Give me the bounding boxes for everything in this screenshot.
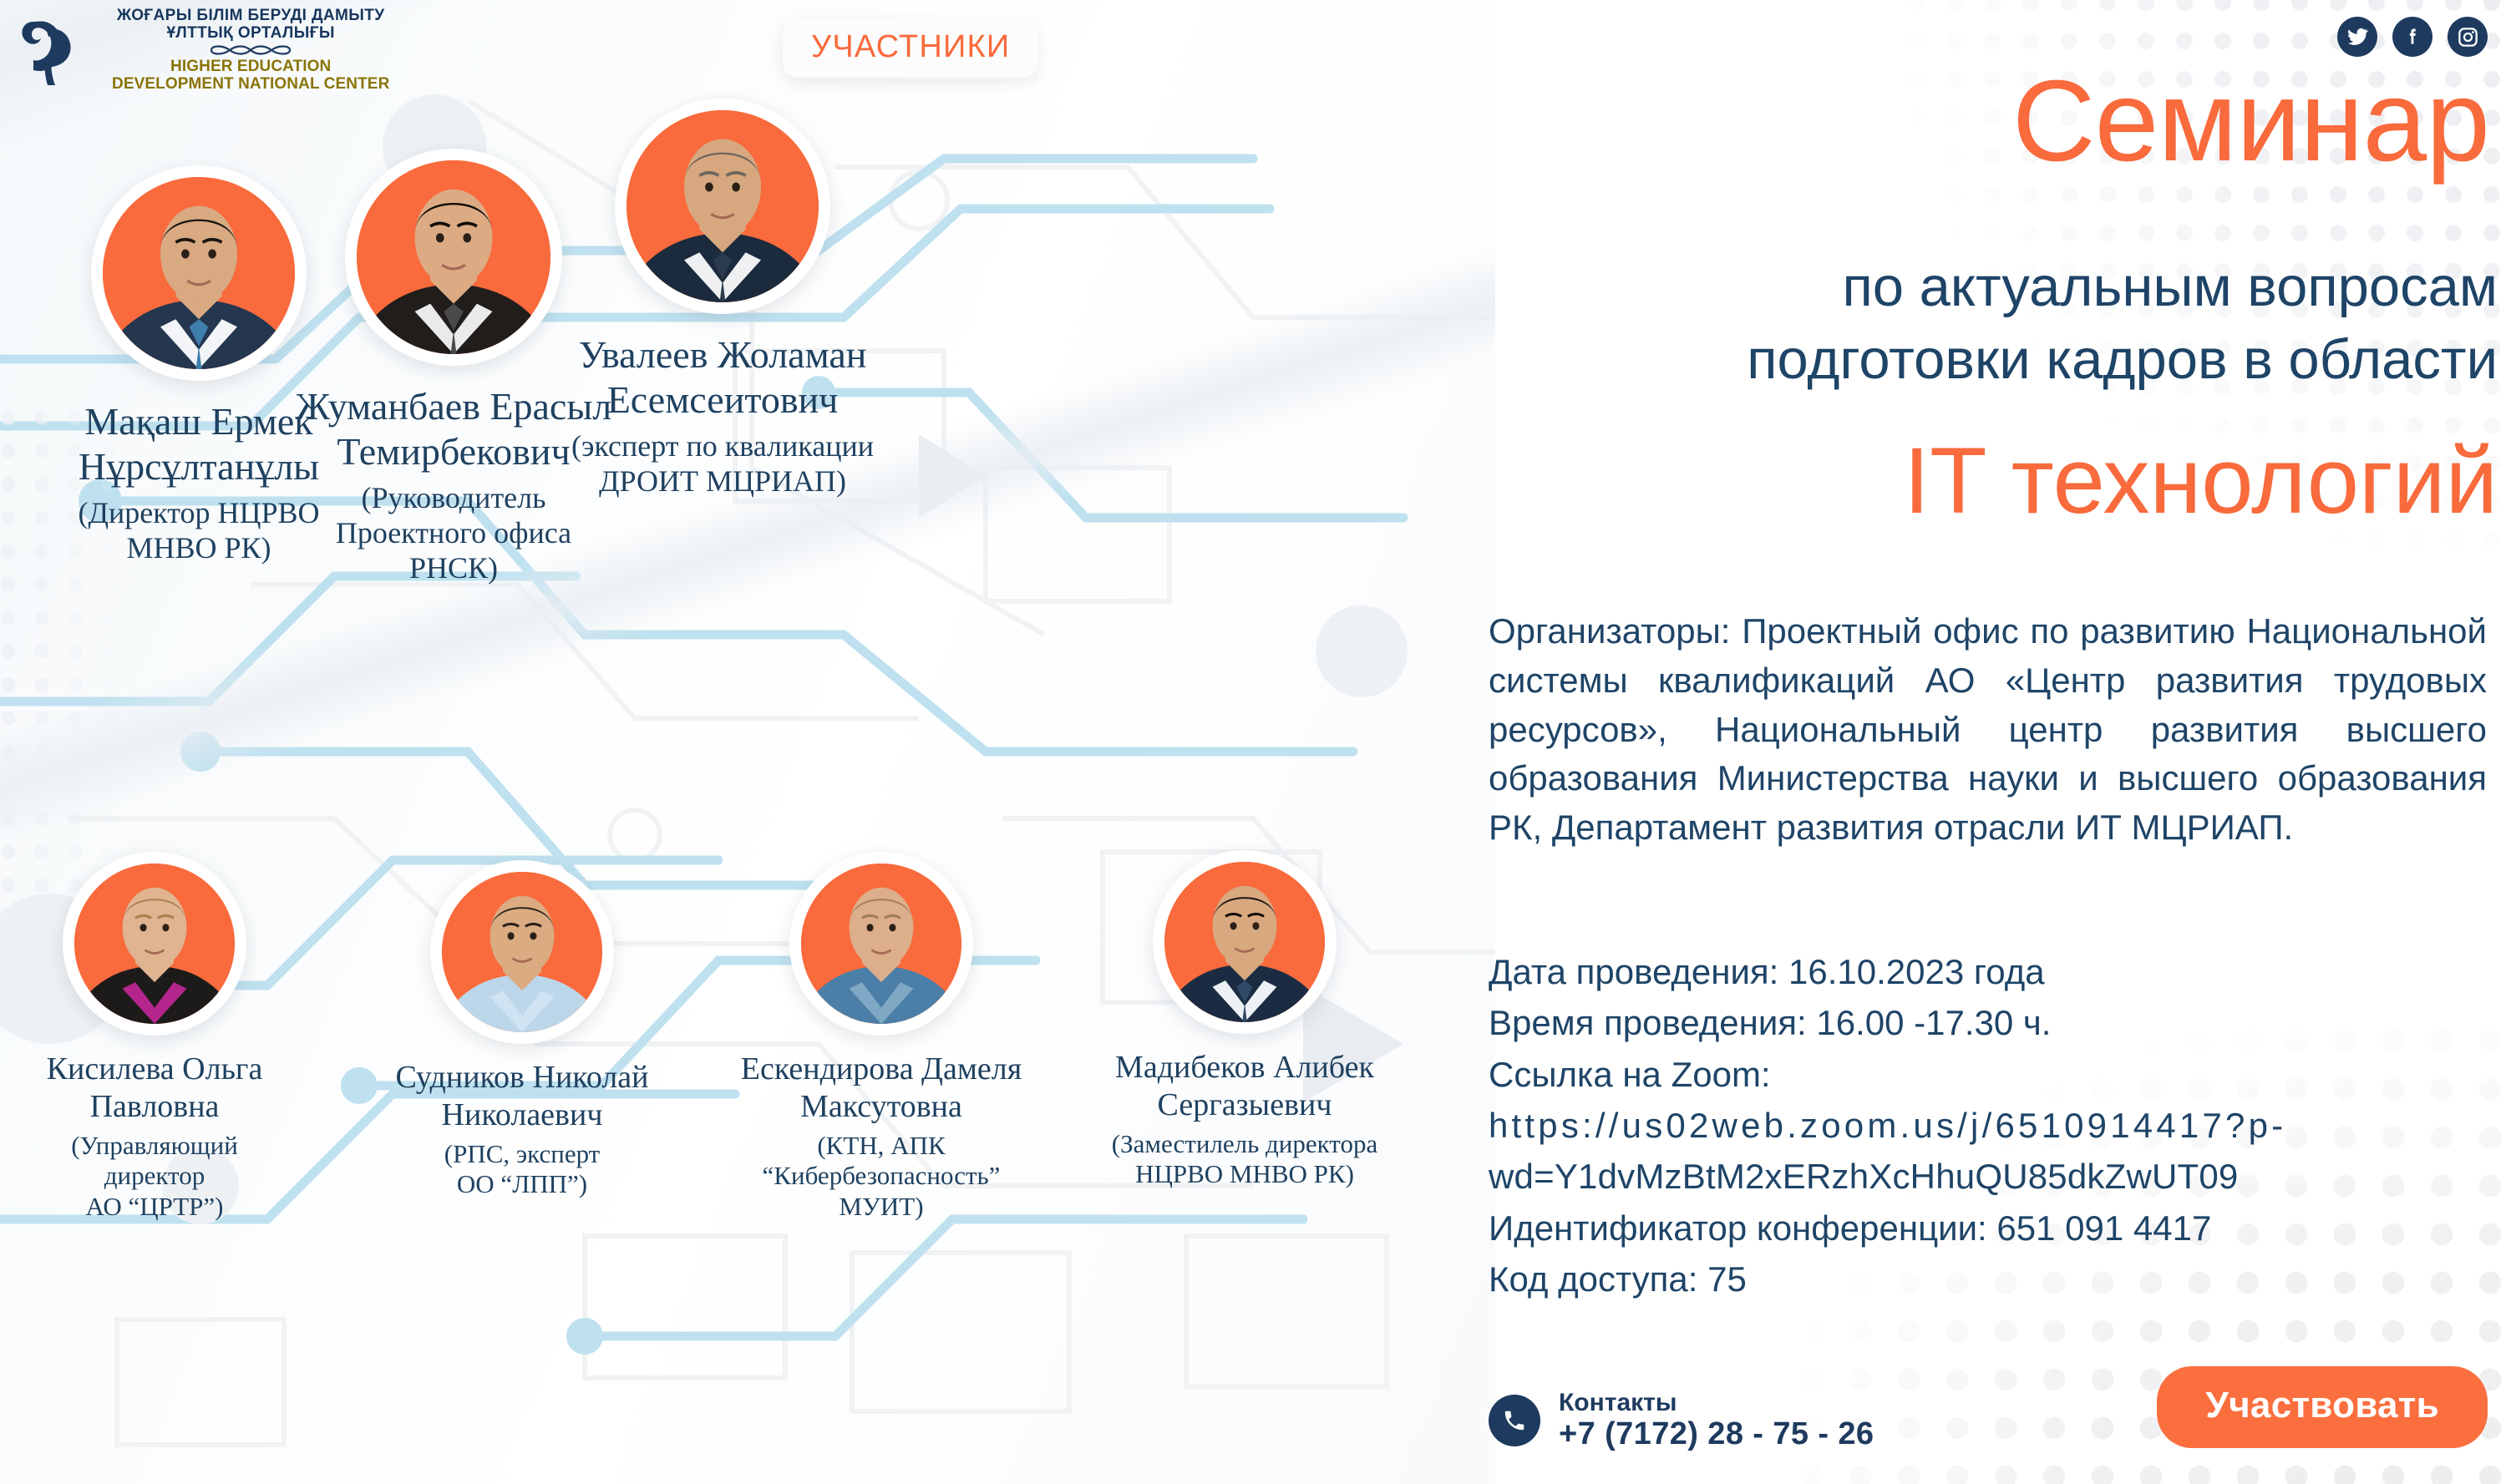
- twitter-icon[interactable]: [2337, 17, 2377, 57]
- avatar-image: [626, 110, 819, 302]
- participant-role: (КТН, АПК“Кибербезопасность”МУИТ): [714, 1131, 1048, 1223]
- social-links: [2337, 17, 2488, 57]
- participant-role-line-2: ОО “ЛПП”): [368, 1169, 677, 1200]
- participant-name: Увалеев Жоламан Есемсеитович: [526, 332, 919, 423]
- contacts-block: Контакты +7 (7172) 28 - 75 - 26: [1489, 1389, 1874, 1452]
- participate-button[interactable]: Участвовать: [2157, 1366, 2488, 1448]
- access-code: Код доступа: 75: [1489, 1254, 2491, 1304]
- phone-icon: [1489, 1395, 1540, 1446]
- portrait-photo: [1164, 862, 1325, 1022]
- participant-name-line-2: Сергазыевич: [1078, 1086, 1412, 1124]
- participant-card: Судников Николай Николаевич (РПС, экспер…: [368, 860, 677, 1200]
- participant-name-line-1: Ескендирова Дамеля: [714, 1051, 1048, 1088]
- participant-card: Мадибеков Алибек Сергазыевич (Заместилел…: [1078, 850, 1412, 1190]
- page-title: Семинар: [1470, 65, 2489, 178]
- avatar-image: [442, 872, 602, 1032]
- subtitle-line-2: подготовки кадров в области: [1420, 323, 2498, 396]
- participant-role-line-1: (Управляющий: [8, 1131, 301, 1162]
- zoom-url-part-1: https://us02web.zoom.us/j/6510914417?p-: [1489, 1106, 2286, 1145]
- logo-kz-line2: ҰЛТТЫҚ ОРТАЛЫҒЫ: [112, 24, 389, 42]
- participant-name-line-1: Судников Николай: [368, 1059, 677, 1097]
- participant-role-line-3: РНСК): [266, 550, 642, 585]
- organization-logo: ЖОҒАРЫ БІЛІМ БЕРУДІ ДАМЫТУ ҰЛТТЫҚ ОРТАЛЫ…: [17, 7, 389, 93]
- event-time: Время проведения: 16.00 -17.30 ч.: [1489, 997, 2491, 1048]
- participant-name-line-2: Есемсеитович: [526, 377, 919, 423]
- participant-role-line-1: (РПС, эксперт: [368, 1139, 677, 1170]
- portrait-photo: [442, 872, 602, 1032]
- avatar: [1153, 850, 1337, 1034]
- participant-card: Ескендирова Дамеля Максутовна (КТН, АПК“…: [714, 852, 1048, 1222]
- avatar: [430, 860, 614, 1044]
- portrait-photo: [801, 864, 961, 1024]
- avatar-image: [1164, 862, 1325, 1022]
- page-subtitle: по актуальным вопросам подготовки кадров…: [1420, 251, 2498, 396]
- participant-card: Увалеев Жоламан Есемсеитович (эксперт по…: [526, 99, 919, 499]
- title-accent: IT технологий: [1420, 434, 2498, 528]
- instagram-icon[interactable]: [2448, 17, 2488, 57]
- infinity-divider-icon: [205, 43, 297, 57]
- participants-badge-label: УЧАСТНИКИ: [811, 29, 1010, 64]
- participant-name-line-1: Увалеев Жоламан: [526, 332, 919, 377]
- participant-name-line-2: Павловна: [8, 1088, 301, 1126]
- participant-name-line-2: Николаевич: [368, 1097, 677, 1134]
- participant-role: (эксперт по кваликацииДРОИТ МЦРИАП): [526, 428, 919, 499]
- participant-name: Ескендирова Дамеля Максутовна: [714, 1051, 1048, 1126]
- participant-role-line-3: АО “ЦРТР”): [8, 1192, 301, 1223]
- contacts-text: Контакты +7 (7172) 28 - 75 - 26: [1559, 1389, 1874, 1452]
- participant-role-line-2: Проектного офиса: [266, 515, 642, 550]
- participant-role-line-2: НЦРВО МНВО РК): [1078, 1159, 1412, 1190]
- avatar-image: [74, 864, 235, 1024]
- logo-en-line1: HIGHER EDUCATION: [112, 58, 389, 75]
- avatar: [789, 852, 973, 1036]
- participant-name-line-2: Максутовна: [714, 1088, 1048, 1126]
- zoom-link[interactable]: https://us02web.zoom.us/j/6510914417?p- …: [1489, 1100, 2491, 1203]
- logo-kz-line1: ЖОҒАРЫ БІЛІМ БЕРУДІ ДАМЫТУ: [112, 7, 389, 24]
- logo-mark-icon: [17, 12, 100, 89]
- subtitle-line-1: по актуальным вопросам: [1420, 251, 2498, 323]
- participant-name-line-1: Мадибеков Алибек: [1078, 1049, 1412, 1086]
- conference-id: Идентификатор конференции: 651 091 4417: [1489, 1203, 2491, 1254]
- portrait-photo: [357, 160, 550, 354]
- participant-role: (УправляющийдиректорАО “ЦРТР”): [8, 1131, 301, 1223]
- zoom-url-part-2: wd=Y1dvMzBtM2xERzhXcHhuQU85dkZwUT09: [1489, 1157, 2239, 1196]
- facebook-icon[interactable]: [2392, 17, 2432, 57]
- avatar-image: [801, 864, 961, 1024]
- logo-text-block: ЖОҒАРЫ БІЛІМ БЕРУДІ ДАМЫТУ ҰЛТТЫҚ ОРТАЛЫ…: [112, 7, 389, 93]
- portrait-photo: [626, 110, 819, 302]
- participants-badge: УЧАСТНИКИ: [783, 18, 1038, 78]
- event-details: Дата проведения: 16.10.2023 года Время п…: [1489, 946, 2491, 1304]
- contacts-label: Контакты: [1559, 1389, 1874, 1417]
- event-date: Дата проведения: 16.10.2023 года: [1489, 946, 2491, 997]
- participant-role: (РПС, экспертОО “ЛПП”): [368, 1139, 677, 1200]
- avatar: [63, 852, 246, 1036]
- participant-role-line-1: (КТН, АПК: [714, 1131, 1048, 1162]
- participant-role-line-1: (Заместилель директора: [1078, 1129, 1412, 1160]
- avatar: [615, 99, 830, 314]
- contacts-phone[interactable]: +7 (7172) 28 - 75 - 26: [1559, 1416, 1874, 1452]
- participant-role: (Заместилель директораНЦРВО МНВО РК): [1078, 1129, 1412, 1190]
- zoom-link-label: Ссылка на Zoom:: [1489, 1049, 2491, 1100]
- participant-role-line-1: (эксперт по кваликации: [526, 428, 919, 463]
- participant-card: Кисилева Ольга Павловна (Управляющийдире…: [8, 852, 301, 1222]
- organizers-paragraph: Организаторы: Проектный офис по развитию…: [1489, 607, 2487, 853]
- participant-name: Судников Николай Николаевич: [368, 1059, 677, 1134]
- participant-role-line-2: ДРОИТ МЦРИАП): [526, 463, 919, 499]
- participant-role-line-2: директор: [8, 1161, 301, 1192]
- participant-name-line-1: Кисилева Ольга: [8, 1051, 301, 1088]
- participant-name: Кисилева Ольга Павловна: [8, 1051, 301, 1126]
- seminar-poster: ЖОҒАРЫ БІЛІМ БЕРУДІ ДАМЫТУ ҰЛТТЫҚ ОРТАЛЫ…: [0, 0, 2506, 1484]
- portrait-photo: [74, 864, 235, 1024]
- participant-name: Мадибеков Алибек Сергазыевич: [1078, 1049, 1412, 1124]
- logo-en-line2: DEVELOPMENT NATIONAL CENTER: [112, 75, 389, 93]
- participant-role-line-3: МУИТ): [714, 1192, 1048, 1223]
- participant-role-line-2: “Кибербезопасность”: [714, 1161, 1048, 1192]
- avatar-image: [357, 160, 550, 354]
